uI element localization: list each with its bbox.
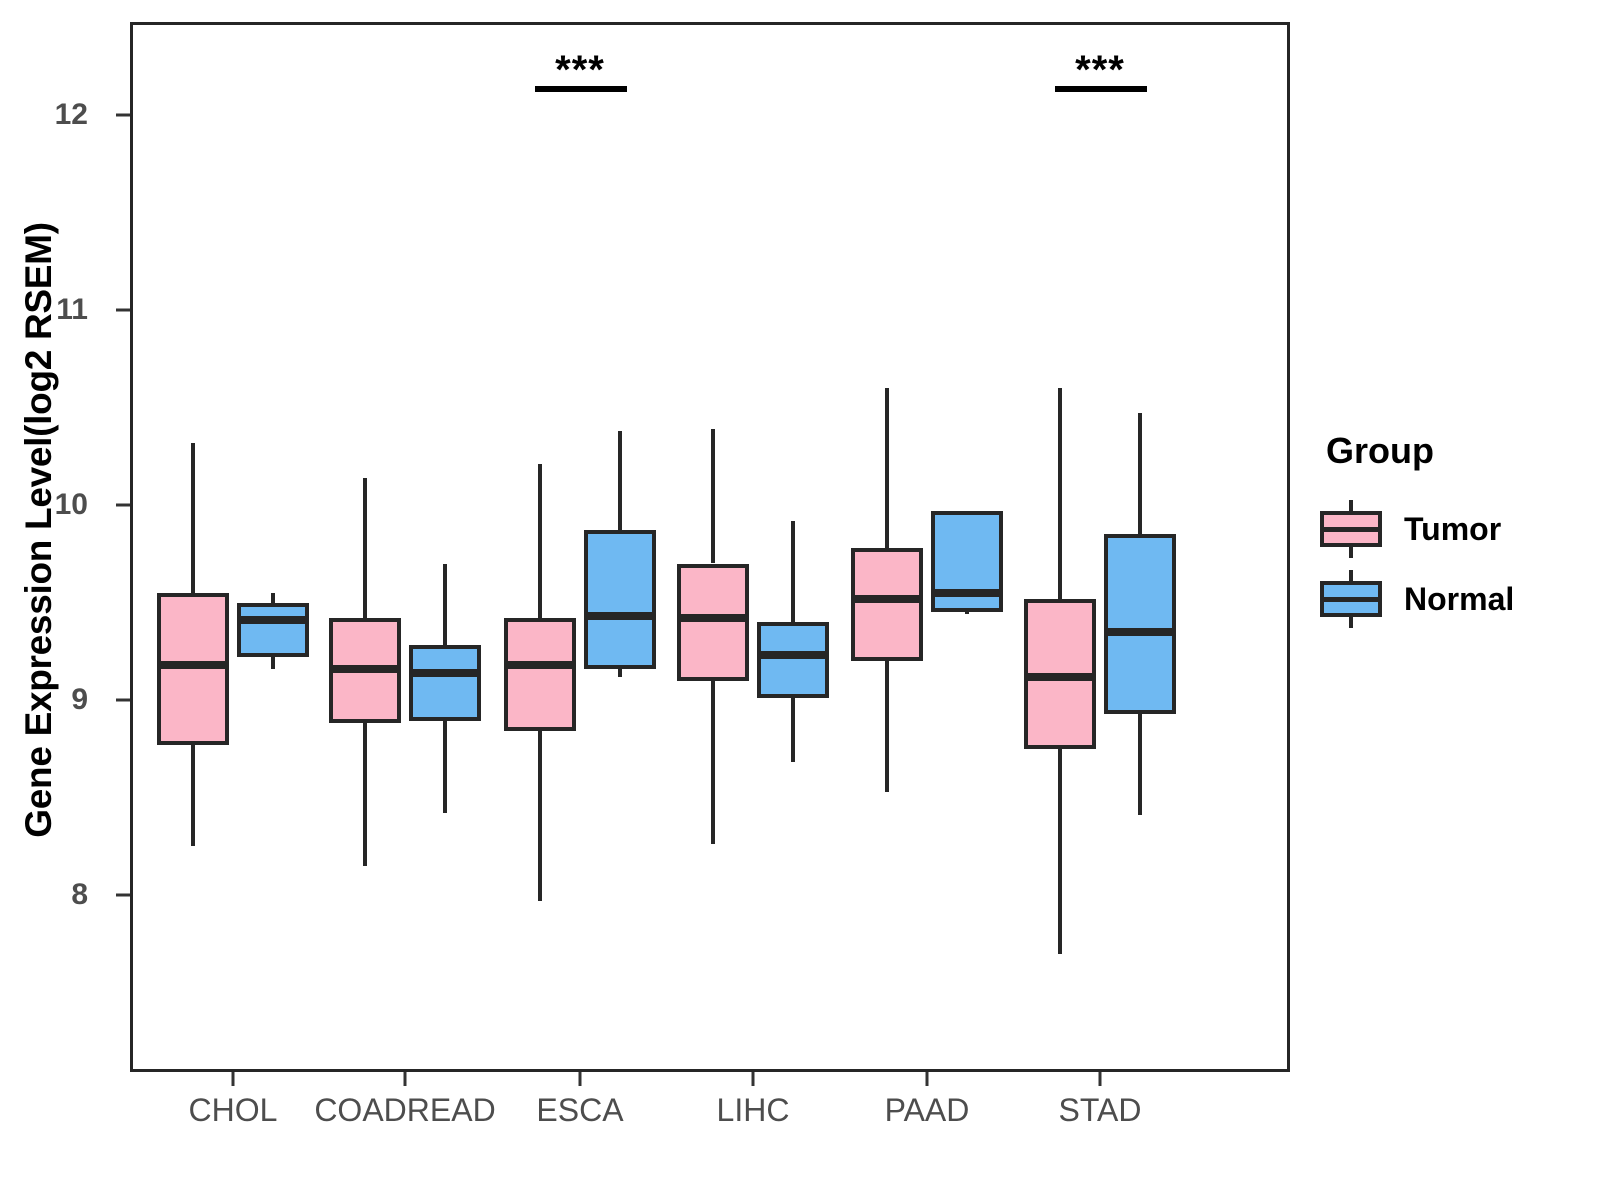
y-tick-label: 8 xyxy=(0,878,88,912)
legend-label: Tumor xyxy=(1404,511,1501,548)
legend-entries: TumorNormal xyxy=(1320,494,1590,634)
legend-key-icon xyxy=(1320,568,1382,630)
x-tick-label-lihc: LIHC xyxy=(717,1092,790,1129)
x-tick-label-paad: PAAD xyxy=(885,1092,970,1129)
legend-item-normal[interactable]: Normal xyxy=(1320,564,1590,634)
legend-key-icon xyxy=(1320,498,1382,560)
x-tick-label-stad: STAD xyxy=(1059,1092,1142,1129)
significance-stars-stad: *** xyxy=(1075,50,1125,90)
y-tick-mark xyxy=(116,504,130,507)
legend-median xyxy=(1320,597,1382,602)
legend-item-tumor[interactable]: Tumor xyxy=(1320,494,1590,564)
x-tick-mark xyxy=(752,1072,755,1086)
y-tick-label: 9 xyxy=(0,683,88,717)
y-tick-label: 12 xyxy=(0,98,88,132)
y-tick-mark xyxy=(116,699,130,702)
chart-root: Gene Expression Level(log2 RSEM) 8910111… xyxy=(0,0,1600,1200)
y-tick-mark xyxy=(116,114,130,117)
whisker-lower xyxy=(1138,714,1142,815)
x-tick-mark xyxy=(232,1072,235,1086)
x-tick-mark xyxy=(404,1072,407,1086)
legend-title: Group xyxy=(1326,430,1590,472)
y-tick-mark xyxy=(116,894,130,897)
legend: Group TumorNormal xyxy=(1320,430,1590,634)
whisker-upper xyxy=(1138,413,1142,534)
x-tick-label-esca: ESCA xyxy=(536,1092,623,1129)
x-tick-label-coadread: COADREAD xyxy=(314,1092,495,1129)
y-tick-mark xyxy=(116,309,130,312)
significance-stars-esca: *** xyxy=(555,50,605,90)
legend-median xyxy=(1320,527,1382,532)
x-tick-mark xyxy=(579,1072,582,1086)
median-line xyxy=(1104,628,1176,636)
x-tick-label-chol: CHOL xyxy=(189,1092,278,1129)
x-tick-mark xyxy=(926,1072,929,1086)
legend-label: Normal xyxy=(1404,581,1514,618)
x-tick-mark xyxy=(1099,1072,1102,1086)
y-tick-label: 11 xyxy=(0,293,88,327)
y-tick-label: 10 xyxy=(0,488,88,522)
boxplot-stad-normal[interactable] xyxy=(130,22,1290,1072)
plot-area xyxy=(130,22,1290,1072)
box-iqr xyxy=(1104,534,1176,713)
